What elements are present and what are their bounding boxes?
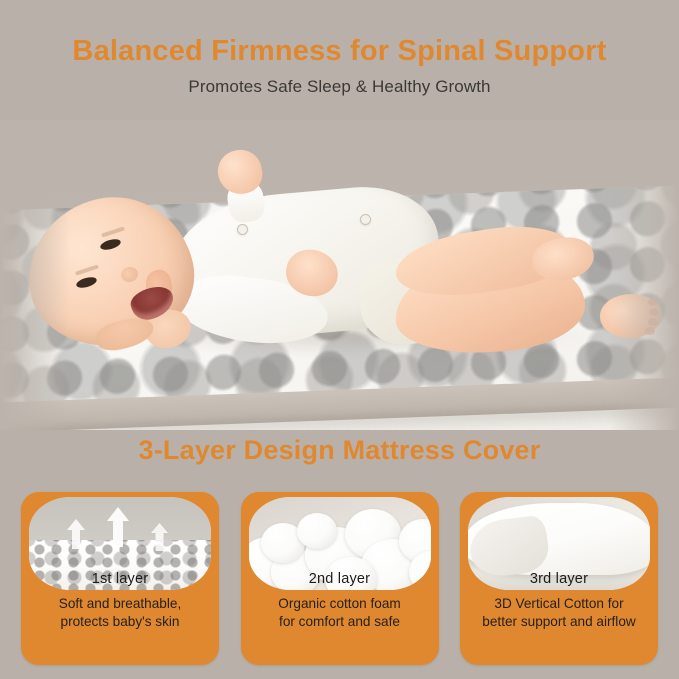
- cotton-puff: [297, 513, 337, 549]
- bodysuit-button: [237, 224, 248, 235]
- layer-3-description: 3D Vertical Cotton for better support an…: [468, 595, 650, 631]
- layer-3-image: 3rd layer: [468, 497, 650, 590]
- infographic-page: Balanced Firmness for Spinal Support Pro…: [0, 0, 679, 679]
- layer-cards: 1st layer Soft and breathable, protects …: [21, 492, 658, 665]
- layer-2-desc-line-1: Organic cotton foam: [249, 595, 431, 613]
- layer-2-desc-line-2: for comfort and safe: [249, 613, 431, 631]
- layer-1-caption: 1st layer: [29, 571, 211, 587]
- bodysuit-button: [360, 214, 371, 225]
- layer-1-desc-line-1: Soft and breathable,: [29, 595, 211, 613]
- page-subtitle: Promotes Safe Sleep & Healthy Growth: [0, 68, 679, 97]
- layer-card-3[interactable]: 3rd layer 3D Vertical Cotton for better …: [460, 492, 658, 665]
- layer-1-desc-line-2: protects baby's skin: [29, 613, 211, 631]
- layer-card-2[interactable]: 2nd layer Organic cotton foam for comfor…: [241, 492, 439, 665]
- section-title: 3-Layer Design Mattress Cover: [0, 435, 679, 466]
- hero-photo: [0, 120, 679, 430]
- header: Balanced Firmness for Spinal Support Pro…: [0, 0, 679, 120]
- baby-illustration: [0, 120, 679, 430]
- layer-3-desc-line-2: better support and airflow: [468, 613, 650, 631]
- layer-2-caption: 2nd layer: [249, 571, 431, 587]
- page-title: Balanced Firmness for Spinal Support: [0, 0, 679, 68]
- hero-fade-right: [609, 120, 679, 430]
- layer-2-description: Organic cotton foam for comfort and safe: [249, 595, 431, 631]
- airflow-arrow-icon: [107, 507, 129, 547]
- airflow-arrow-icon: [151, 523, 168, 551]
- layer-3-desc-line-1: 3D Vertical Cotton for: [468, 595, 650, 613]
- layer-card-1[interactable]: 1st layer Soft and breathable, protects …: [21, 492, 219, 665]
- layer-1-description: Soft and breathable, protects baby's ski…: [29, 595, 211, 631]
- layer-2-image: 2nd layer: [249, 497, 431, 590]
- layer-3-caption: 3rd layer: [468, 571, 650, 587]
- layer-1-image: 1st layer: [29, 497, 211, 590]
- hero-fade-left: [0, 120, 70, 430]
- airflow-arrow-icon: [67, 519, 85, 549]
